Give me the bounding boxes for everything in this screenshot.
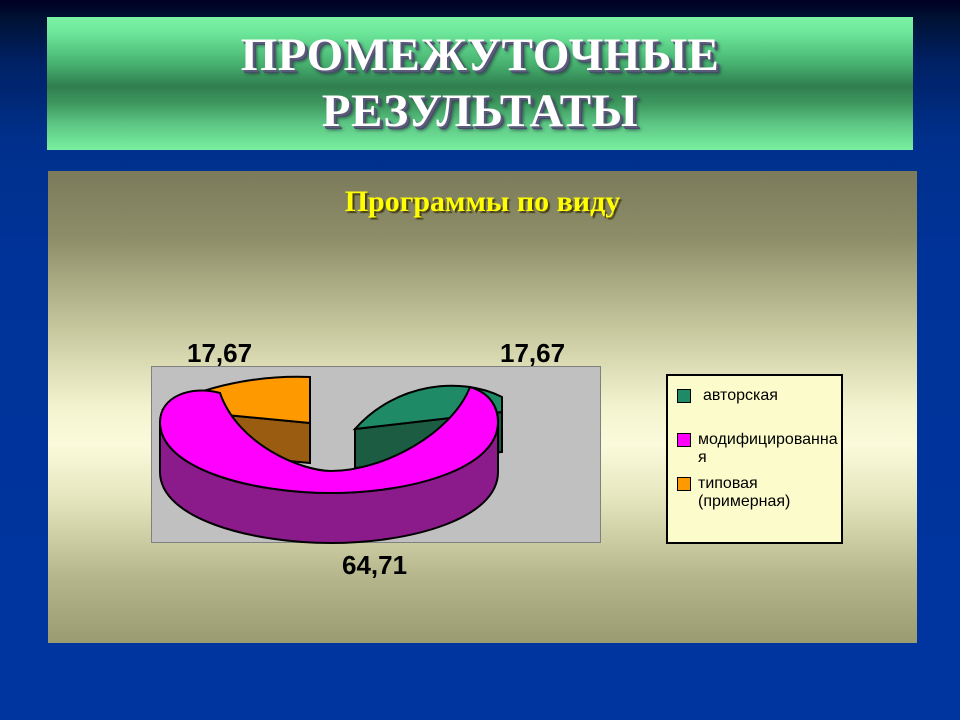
legend-swatch-typical xyxy=(677,477,691,491)
pie-chart-graphic xyxy=(152,367,602,544)
page-title: ПРОМЕЖУТОЧНЫЕ РЕЗУЛЬТАТЫ xyxy=(47,17,913,150)
chart-title: Программы по виду xyxy=(48,185,917,219)
title-banner: ПРОМЕЖУТОЧНЫЕ РЕЗУЛЬТАТЫ xyxy=(47,17,913,150)
data-label-typical: 17,67 xyxy=(187,338,252,369)
legend-label-author: авторская xyxy=(703,387,778,405)
pie-chart-plot-area[interactable] xyxy=(151,366,601,543)
legend-label-modified: модифицированная xyxy=(698,431,838,467)
legend-swatch-modified xyxy=(677,433,691,447)
data-label-modified: 64,71 xyxy=(342,550,407,581)
legend-item-typical[interactable]: типовая (примерная) xyxy=(677,475,841,511)
chart-legend[interactable]: авторская модифицированная типовая (прим… xyxy=(666,374,843,544)
slide-canvas: ПРОМЕЖУТОЧНЫЕ РЕЗУЛЬТАТЫ Программы по ви… xyxy=(0,0,960,720)
legend-swatch-author xyxy=(677,389,691,403)
data-label-author: 17,67 xyxy=(500,338,565,369)
legend-item-modified[interactable]: модифицированная xyxy=(677,431,841,467)
legend-item-author[interactable]: авторская xyxy=(677,387,841,405)
chart-panel: Программы по виду 17,67 17,67 64,71 xyxy=(48,171,917,643)
legend-label-typical: типовая (примерная) xyxy=(698,475,838,511)
